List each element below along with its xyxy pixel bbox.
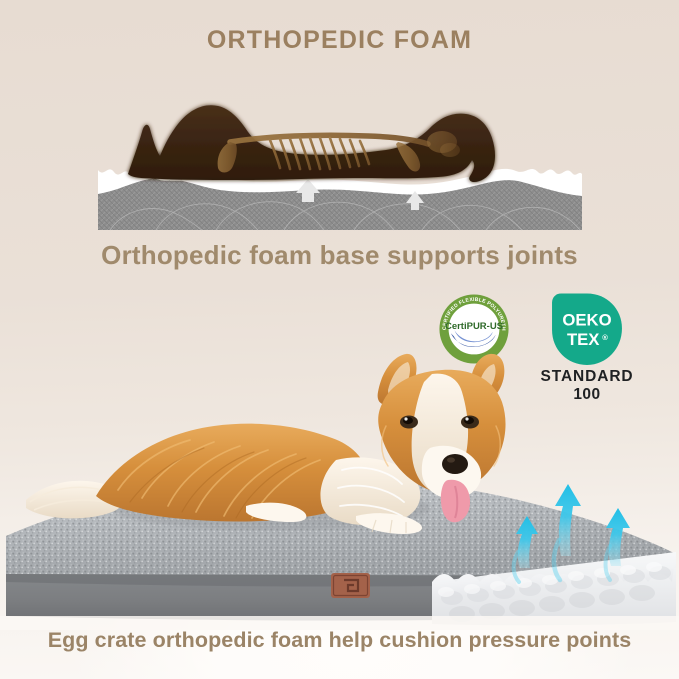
- cross-section-svg: [98, 84, 582, 236]
- orthopedic-foam-cross-section: [98, 84, 582, 236]
- page-title: ORTHOPEDIC FOAM: [0, 26, 679, 55]
- product-scene: [0, 330, 679, 630]
- diagram-caption: Orthopedic foam base supports joints: [0, 240, 679, 271]
- infographic-root: ORTHOPEDIC FOAM: [0, 0, 679, 679]
- product-caption: Egg crate orthopedic foam help cushion p…: [0, 628, 679, 653]
- dog-nose: [442, 454, 468, 474]
- brand-leather-tag: [331, 573, 370, 598]
- oeko-line1: OEKO: [562, 310, 611, 329]
- product-scene-svg: [0, 330, 679, 630]
- dog-silhouette: [128, 105, 495, 182]
- certipur-trademark: ™: [501, 322, 505, 326]
